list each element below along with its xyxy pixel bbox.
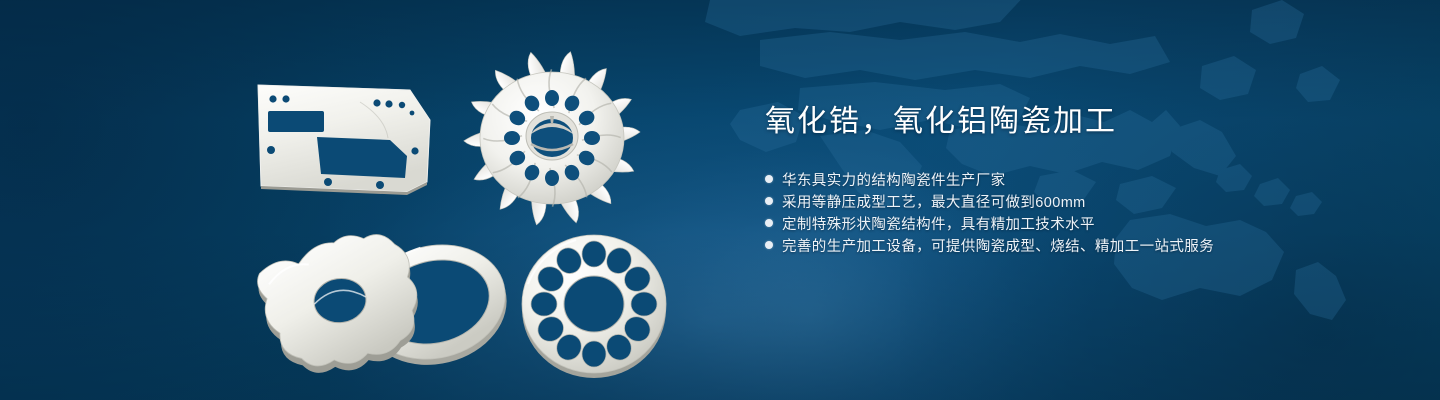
feature-list: 华东具实力的结构陶瓷件生产厂家 采用等静压成型工艺，最大直径可做到600mm 定… [765,168,1405,256]
hero-banner: 氧化锆，氧化铝陶瓷加工 华东具实力的结构陶瓷件生产厂家 采用等静压成型工艺，最大… [0,0,1440,400]
feature-item-2: 采用等静压成型工艺，最大直径可做到600mm [765,190,1405,212]
bullet-dot-icon [765,175,773,183]
ceramic-perforated-disc [516,228,676,383]
feature-text: 采用等静压成型工艺，最大直径可做到600mm [782,191,1086,212]
feature-item-3: 定制特殊形状陶瓷结构件，具有精加工技术水平 [765,212,1405,234]
feature-text: 华东具实力的结构陶瓷件生产厂家 [782,169,1006,190]
feature-text: 完善的生产加工设备，可提供陶瓷成型、烧结、精加工一站式服务 [782,235,1214,256]
feature-item-1: 华东具实力的结构陶瓷件生产厂家 [765,168,1405,190]
bullet-dot-icon [765,219,773,227]
banner-copy: 氧化锆，氧化铝陶瓷加工 华东具实力的结构陶瓷件生产厂家 采用等静压成型工艺，最大… [765,104,1405,256]
ceramic-machined-plate [255,82,435,197]
ceramic-impeller-disc [452,50,652,230]
bullet-dot-icon [765,197,773,205]
feature-text: 定制特殊形状陶瓷结构件，具有精加工技术水平 [782,213,1095,234]
product-photo-group [0,0,760,400]
banner-headline: 氧化锆，氧化铝陶瓷加工 [765,104,1405,140]
ceramic-cross-plate [252,228,437,373]
bullet-dot-icon [765,241,773,249]
feature-item-4: 完善的生产加工设备，可提供陶瓷成型、烧结、精加工一站式服务 [765,234,1405,256]
